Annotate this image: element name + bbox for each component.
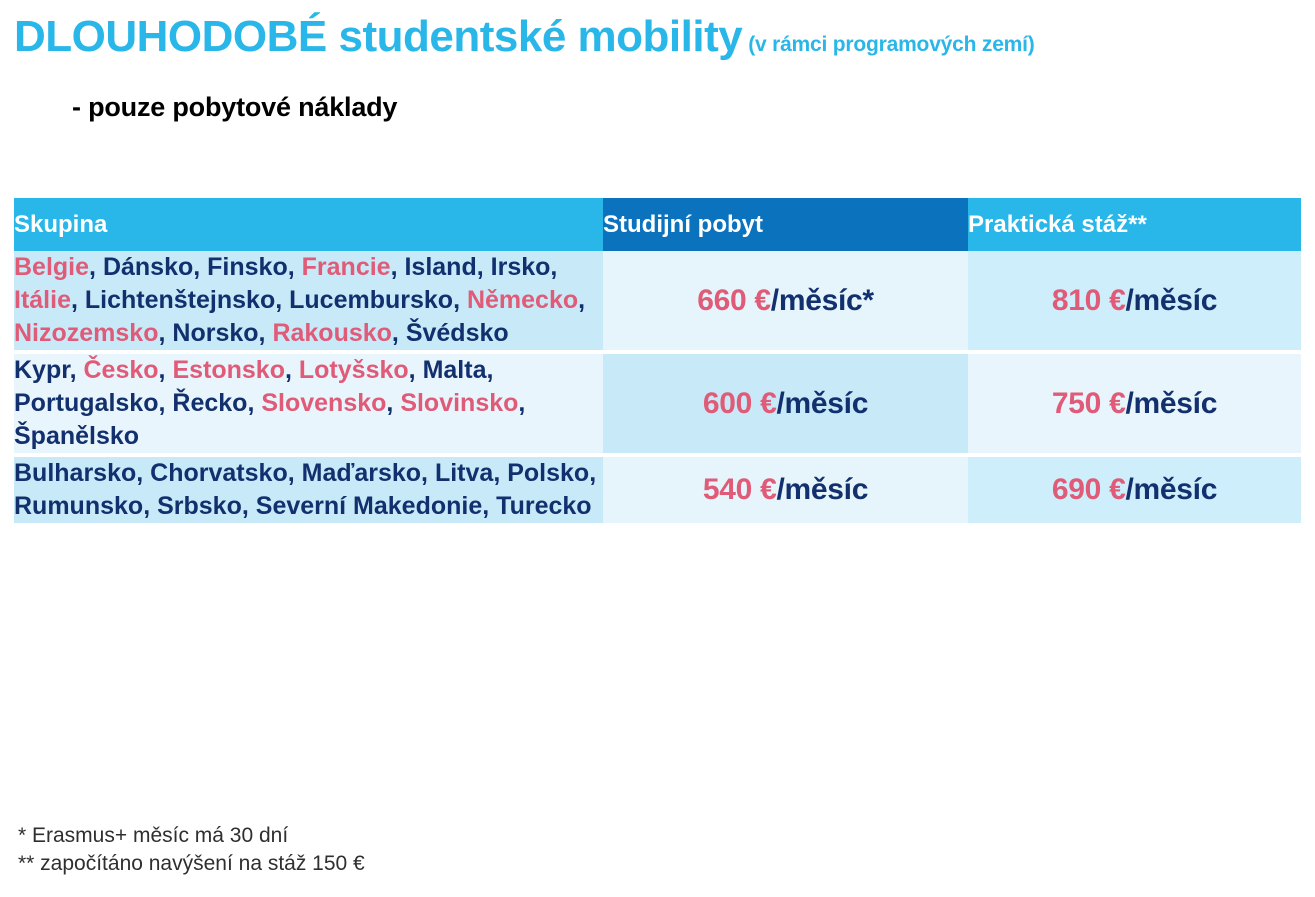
country-separator: , [136, 459, 150, 487]
country-name: Polsko [507, 459, 589, 487]
cell-study-amount: 600 €/měsíc [603, 354, 968, 453]
country-name: Finsko [207, 253, 288, 281]
country-name: Island [404, 253, 476, 281]
country-name: Lichtenštejnsko [85, 286, 275, 314]
internship-amount-value: 810 € [1052, 284, 1126, 317]
country-name: Francie [302, 253, 391, 281]
study-amount-unit: /měsíc [776, 387, 868, 420]
country-separator: , [391, 253, 405, 281]
table-row: Kypr, Česko, Estonsko, Lotyšsko, Malta, … [14, 354, 1301, 453]
column-header-group: Skupina [14, 198, 603, 251]
country-separator: , [247, 389, 261, 417]
country-separator: , [71, 286, 85, 314]
country-name: Kypr [14, 356, 70, 384]
country-name: Švédsko [406, 319, 509, 347]
study-amount-value: 600 € [703, 387, 777, 420]
country-name: Německo [467, 286, 578, 314]
country-separator: , [453, 286, 467, 314]
title-block: DLOUHODOBÉ studentské mobility(v rámci p… [0, 0, 1315, 123]
internship-amount-unit: /měsíc [1125, 387, 1217, 420]
country-separator: , [288, 459, 302, 487]
page-title: DLOUHODOBÉ studentské mobility(v rámci p… [14, 14, 1315, 60]
country-name: Řecko [172, 389, 247, 417]
footnote-single-star: * Erasmus+ měsíc má 30 dní [18, 822, 365, 850]
country-name: Irsko [491, 253, 551, 281]
country-name: Česko [84, 356, 159, 384]
cell-countries: Kypr, Česko, Estonsko, Lotyšsko, Malta, … [14, 354, 603, 453]
country-separator: , [589, 459, 596, 487]
country-separator: , [493, 459, 507, 487]
page-title-note: (v rámci programových zemí) [748, 33, 1034, 56]
country-separator: , [288, 253, 302, 281]
country-name: Slovensko [261, 389, 386, 417]
study-amount-unit: /měsíc* [771, 284, 874, 317]
country-separator: , [285, 356, 299, 384]
table-header: Skupina Studijní pobyt Praktická stáž** [14, 198, 1301, 251]
rates-table: Skupina Studijní pobyt Praktická stáž** … [14, 198, 1301, 523]
table-body: Belgie, Dánsko, Finsko, Francie, Island,… [14, 251, 1301, 523]
country-name: Portugalsko [14, 389, 158, 417]
country-separator: , [482, 492, 496, 520]
country-name: Španělsko [14, 422, 139, 450]
country-separator: , [259, 319, 273, 347]
internship-amount-unit: /měsíc [1125, 284, 1217, 317]
country-name: Srbsko [157, 492, 242, 520]
internship-amount-value: 750 € [1052, 387, 1126, 420]
study-amount-value: 660 € [697, 284, 771, 317]
country-separator: , [386, 389, 400, 417]
country-name: Turecko [496, 492, 591, 520]
country-name: Belgie [14, 253, 89, 281]
internship-amount-unit: /měsíc [1125, 473, 1217, 506]
column-header-internship: Praktická stáž** [968, 198, 1301, 251]
country-name: Dánsko [103, 253, 193, 281]
country-name: Lotyšsko [299, 356, 409, 384]
country-separator: , [392, 319, 406, 347]
country-separator: , [518, 389, 525, 417]
internship-amount-value: 690 € [1052, 473, 1126, 506]
country-separator: , [275, 286, 289, 314]
cell-internship-amount: 690 €/měsíc [968, 457, 1301, 523]
table-row: Belgie, Dánsko, Finsko, Francie, Island,… [14, 251, 1301, 350]
cell-internship-amount: 810 €/měsíc [968, 251, 1301, 350]
cell-study-amount: 540 €/měsíc [603, 457, 968, 523]
table-row: Bulharsko, Chorvatsko, Maďarsko, Litva, … [14, 457, 1301, 523]
country-name: Litva [435, 459, 493, 487]
country-separator: , [70, 356, 84, 384]
footnotes: * Erasmus+ měsíc má 30 dní ** započítáno… [18, 822, 365, 878]
study-amount-value: 540 € [703, 473, 777, 506]
country-separator: , [159, 356, 173, 384]
country-separator: , [477, 253, 491, 281]
page-title-rest: studentské mobility [327, 12, 742, 61]
page-title-emphasis: DLOUHODOBÉ [14, 12, 327, 61]
country-separator: , [89, 253, 103, 281]
page-subtitle: - pouze pobytové náklady [72, 92, 1315, 123]
cell-study-amount: 660 €/měsíc* [603, 251, 968, 350]
country-separator: , [158, 319, 172, 347]
country-name: Maďarsko [302, 459, 421, 487]
country-name: Norsko [172, 319, 258, 347]
country-separator: , [193, 253, 207, 281]
country-name: Chorvatsko [150, 459, 288, 487]
table-header-row: Skupina Studijní pobyt Praktická stáž** [14, 198, 1301, 251]
country-name: Malta [423, 356, 487, 384]
country-name: Bulharsko [14, 459, 136, 487]
country-name: Rumunsko [14, 492, 143, 520]
study-amount-unit: /měsíc [776, 473, 868, 506]
country-name: Lucembursko [289, 286, 453, 314]
cell-internship-amount: 750 €/měsíc [968, 354, 1301, 453]
country-separator: , [550, 253, 557, 281]
cell-countries: Bulharsko, Chorvatsko, Maďarsko, Litva, … [14, 457, 603, 523]
column-header-study: Studijní pobyt [603, 198, 968, 251]
cell-countries: Belgie, Dánsko, Finsko, Francie, Island,… [14, 251, 603, 350]
country-name: Severní Makedonie [256, 492, 482, 520]
country-name: Itálie [14, 286, 71, 314]
country-name: Estonsko [172, 356, 285, 384]
country-separator: , [158, 389, 172, 417]
country-separator: , [242, 492, 256, 520]
country-separator: , [486, 356, 493, 384]
country-name: Slovinsko [400, 389, 518, 417]
country-separator: , [409, 356, 423, 384]
country-name: Nizozemsko [14, 319, 158, 347]
country-separator: , [578, 286, 585, 314]
country-name: Rakousko [272, 319, 391, 347]
country-separator: , [421, 459, 435, 487]
footnote-double-star: ** započítáno navýšení na stáž 150 € [18, 850, 365, 878]
country-separator: , [143, 492, 157, 520]
